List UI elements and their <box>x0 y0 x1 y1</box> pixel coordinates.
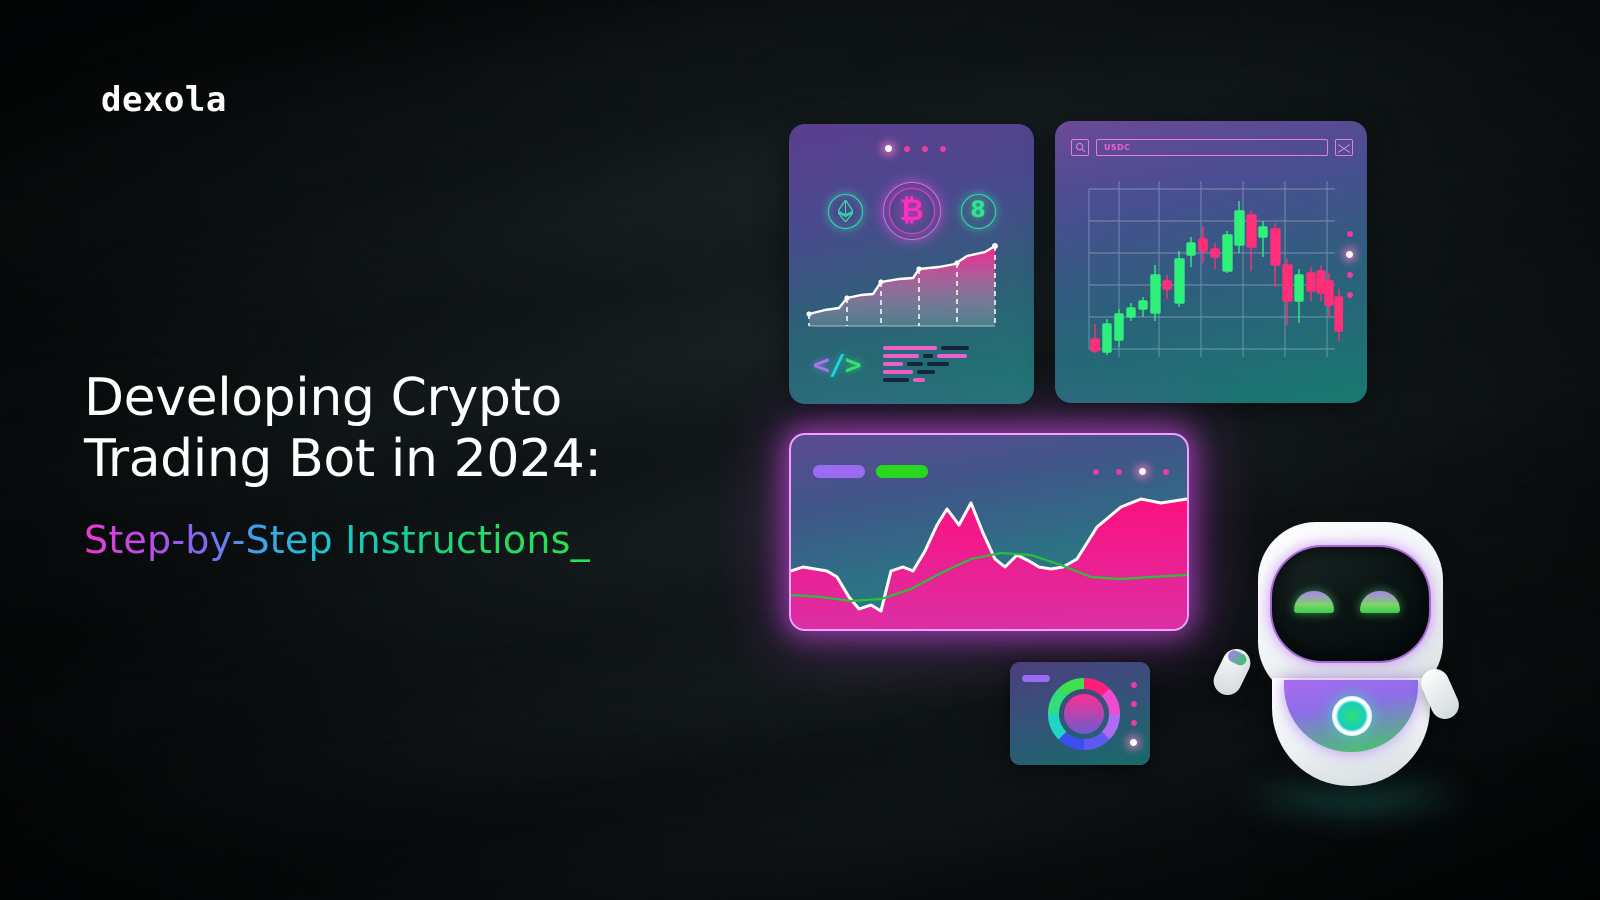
wide-area-chart-card[interactable] <box>789 433 1189 631</box>
portfolio-donut-card[interactable] <box>1010 662 1150 765</box>
price-area-chart <box>791 497 1187 629</box>
filter-pill-row[interactable] <box>813 465 928 478</box>
status-dot <box>1347 231 1353 237</box>
status-dot <box>1116 469 1122 475</box>
crypto-coins-card[interactable]: ₿ 8 <box>789 124 1034 404</box>
robot-head <box>1258 522 1443 700</box>
title-line-2: Trading Bot in 2024: <box>84 429 724 490</box>
status-dot <box>1131 720 1137 726</box>
search-bar[interactable]: USDC <box>1071 139 1353 156</box>
stellar-glyph: 8 <box>970 200 985 222</box>
status-dot-active <box>1130 739 1137 746</box>
status-dot <box>904 146 910 152</box>
candlestick-chart <box>1071 181 1343 389</box>
status-dot <box>1093 469 1099 475</box>
ethereum-icon[interactable] <box>828 194 863 229</box>
side-status-dots <box>1346 231 1353 298</box>
growth-area-chart <box>795 242 1029 347</box>
robot-eye-right <box>1360 591 1400 613</box>
robot-core-light <box>1332 696 1372 736</box>
status-dot <box>1347 292 1353 298</box>
status-dot-active <box>1139 468 1146 475</box>
robot-chest-panel <box>1284 680 1418 752</box>
assistant-robot[interactable] <box>1228 500 1478 800</box>
stellar-icon[interactable]: 8 <box>961 194 996 229</box>
status-dot <box>922 146 928 152</box>
title-line-1: Developing Crypto <box>84 368 724 429</box>
brand-logo[interactable]: dexola <box>101 80 227 120</box>
filter-pill-green[interactable] <box>876 465 928 478</box>
portfolio-donut-chart <box>1044 674 1124 754</box>
candlestick-card[interactable]: USDC <box>1055 121 1367 403</box>
status-dot-active <box>885 145 892 152</box>
code-lines <box>883 346 969 382</box>
status-dot <box>1131 682 1137 688</box>
status-dot-active <box>1346 251 1353 258</box>
status-dots <box>1093 468 1169 475</box>
page-title: Developing Crypto Trading Bot in 2024: <box>84 368 724 490</box>
search-input[interactable]: USDC <box>1096 139 1328 156</box>
side-status-dots <box>1130 682 1137 746</box>
page-subtitle: Step-by-Step Instructions_ <box>84 518 590 562</box>
filter-pill-purple[interactable] <box>813 465 865 478</box>
coin-icon-row: ₿ 8 <box>789 182 1034 240</box>
code-brackets-icon: </> <box>813 348 861 381</box>
status-dot <box>940 146 946 152</box>
status-dots <box>885 145 946 152</box>
status-dot <box>1163 469 1169 475</box>
bitcoin-glyph: ₿ <box>899 196 923 226</box>
search-icon[interactable] <box>1071 139 1089 156</box>
close-icon[interactable] <box>1335 139 1353 156</box>
bitcoin-icon[interactable]: ₿ <box>883 182 941 240</box>
status-dot <box>1347 272 1353 278</box>
search-input-value: USDC <box>1104 143 1130 152</box>
status-dot <box>1131 701 1137 707</box>
code-snippet-block: </> <box>813 346 969 382</box>
robot-body <box>1272 678 1430 786</box>
hero-banner: dexola Developing Crypto Trading Bot in … <box>0 0 1600 900</box>
robot-visor <box>1270 545 1431 663</box>
robot-eye-left <box>1294 591 1334 613</box>
